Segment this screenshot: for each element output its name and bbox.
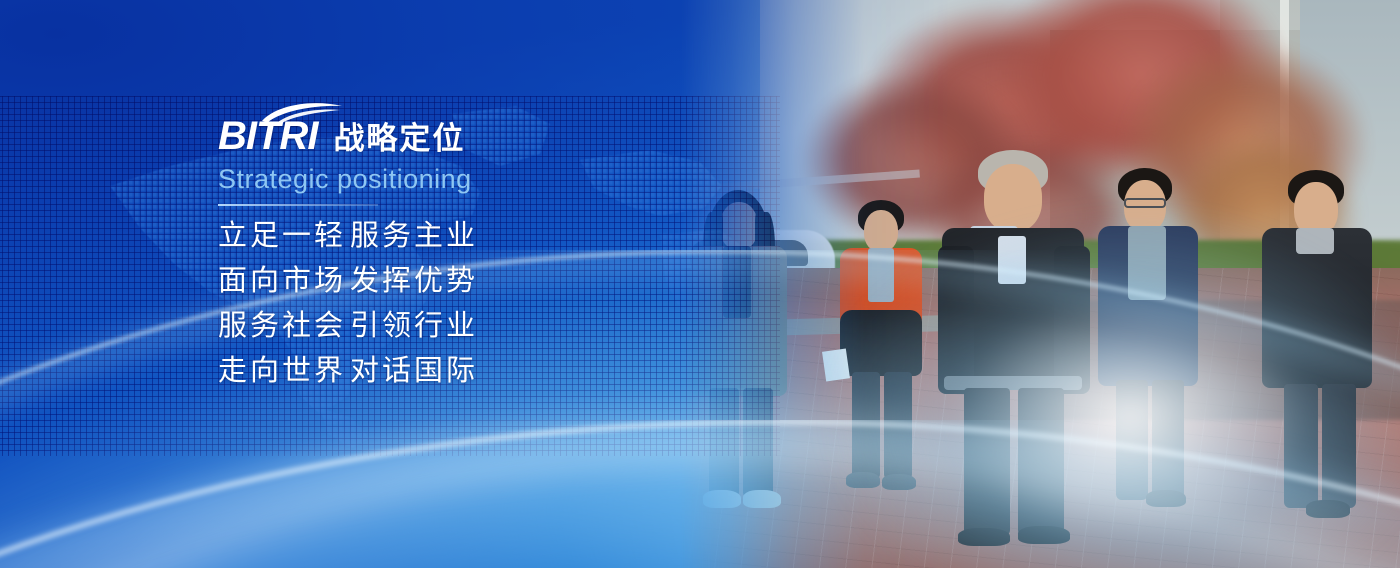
brand-subtitle-en: Strategic positioning bbox=[218, 165, 638, 195]
slogan-right: 引领行业 bbox=[350, 312, 478, 341]
brand-row: BITRI 战略定位 bbox=[218, 110, 638, 156]
brand-title-cn: 战略定位 bbox=[333, 123, 465, 154]
slogan-left: 面向市场 bbox=[218, 267, 350, 296]
slogan-right: 发挥优势 bbox=[350, 267, 478, 296]
slogan-line: 服务社会 引领行业 bbox=[218, 312, 638, 341]
slogan-left: 服务社会 bbox=[218, 312, 350, 341]
slogan-left: 走向世界 bbox=[218, 357, 350, 386]
photo-person-leader bbox=[938, 150, 1108, 550]
slogan-line: 走向世界 对话国际 bbox=[218, 357, 638, 386]
campus-photo bbox=[620, 0, 1400, 568]
banner-content: BITRI 战略定位 Strategic positioning 立足一轻 服务… bbox=[218, 110, 638, 402]
photo-eyeglasses-icon bbox=[1124, 198, 1166, 208]
photo-held-paper bbox=[822, 348, 850, 381]
photo-person-right bbox=[1258, 170, 1388, 520]
photo-person-blazer bbox=[1090, 168, 1220, 508]
slogan-line: 立足一轻 服务主业 bbox=[218, 222, 638, 251]
slogan-line: 面向市场 发挥优势 bbox=[218, 267, 638, 296]
slogan-right: 服务主业 bbox=[350, 222, 478, 251]
slogan-left: 立足一轻 bbox=[218, 222, 350, 251]
slogan-right: 对话国际 bbox=[350, 357, 478, 386]
strategic-positioning-banner: BITRI 战略定位 Strategic positioning 立足一轻 服务… bbox=[0, 0, 1400, 568]
slogan-list: 立足一轻 服务主业 面向市场 发挥优势 服务社会 引领行业 走向世界 对话国际 bbox=[218, 222, 638, 386]
photo-person-orange-jacket bbox=[828, 200, 938, 500]
photo-person-woman bbox=[675, 190, 805, 510]
bitri-logo-text: BITRI bbox=[218, 116, 319, 156]
title-divider bbox=[218, 204, 378, 206]
